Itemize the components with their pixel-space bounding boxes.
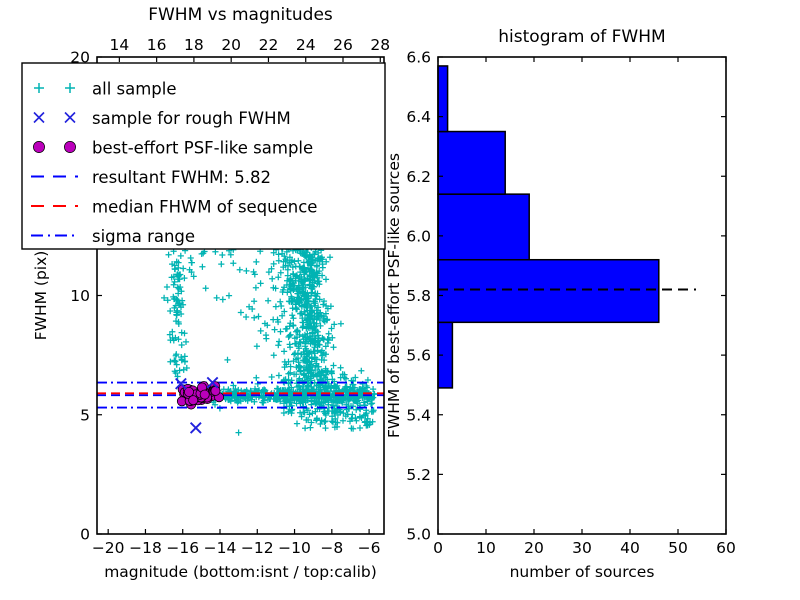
left-ytick-label: 0: [80, 526, 90, 544]
legend-item-label: resultant FWHM: 5.82: [92, 168, 271, 187]
right-xtick-label: 60: [716, 539, 736, 557]
left-xtick-label: −16: [166, 539, 199, 557]
legend-circle-icon: [64, 141, 75, 152]
histogram-bar: [438, 260, 659, 323]
left-plot-axes: −20−18−16−14−12−10−8−6141618202224262805…: [22, 5, 736, 581]
legend-item-label: all sample: [92, 80, 177, 99]
left-xtick-label: −18: [129, 539, 162, 557]
matplotlib-figure: −20−18−16−14−12−10−8−6141618202224262805…: [0, 0, 800, 600]
right-ytick-label: 6.4: [406, 108, 431, 126]
left-ytick-label: 5: [80, 406, 90, 424]
right-xtick-label: 0: [433, 539, 443, 557]
legend: all samplesample for rough FWHMbest-effo…: [22, 63, 385, 249]
psf-sample-point: [189, 396, 198, 405]
right-ytick-label: 6.6: [406, 49, 431, 67]
left-top-xtick-label: 20: [221, 36, 241, 54]
right-plot-title: histogram of FWHM: [498, 27, 665, 47]
left-plot-xlabel: magnitude (bottom:isnt / top:calib): [104, 563, 377, 581]
right-xtick-label: 20: [524, 539, 544, 557]
histogram-bar: [438, 194, 529, 260]
right-ytick-label: 6.0: [406, 227, 431, 245]
left-top-xtick-label: 16: [147, 36, 167, 54]
right-ytick-label: 6.2: [406, 168, 431, 186]
left-top-xtick-label: 24: [296, 36, 316, 54]
right-xtick-label: 40: [620, 539, 640, 557]
left-plot-ylabel: FWHM (pix): [32, 251, 50, 341]
left-top-xtick-label: 26: [333, 36, 353, 54]
left-xtick-label: −10: [278, 539, 311, 557]
left-top-xtick-label: 14: [109, 36, 129, 54]
left-xtick-label: −20: [92, 539, 125, 557]
right-ytick-label: 5.4: [406, 406, 431, 424]
right-ytick-label: 5.2: [406, 466, 431, 484]
legend-item-label: best-effort PSF-like sample: [92, 139, 313, 158]
left-top-xtick-label: 28: [370, 36, 390, 54]
left-xtick-label: −8: [320, 539, 343, 557]
left-xtick-label: −12: [241, 539, 274, 557]
left-plot-title: FWHM vs magnitudes: [148, 5, 333, 25]
histogram-bar: [438, 66, 448, 132]
psf-sample-point: [200, 390, 209, 399]
histogram-bar: [438, 132, 505, 195]
psf-sample-point: [211, 386, 220, 395]
figure-canvas: −20−18−16−14−12−10−8−6141618202224262805…: [0, 0, 800, 600]
right-xtick-label: 30: [572, 539, 592, 557]
legend-circle-icon: [33, 141, 44, 152]
left-top-xtick-label: 22: [259, 36, 279, 54]
legend-item-label: median FHWM of sequence: [92, 198, 317, 217]
right-xtick-label: 50: [668, 539, 688, 557]
right-ytick-label: 5.0: [406, 526, 431, 544]
legend-item-label: sigma range: [92, 227, 195, 246]
left-xtick-label: −6: [358, 539, 381, 557]
right-ytick-label: 5.8: [406, 287, 431, 305]
left-ytick-label: 10: [70, 287, 90, 305]
right-ytick-label: 5.6: [406, 347, 431, 365]
right-plot-ylabel: FWHM of best-effort PSF-like sources: [385, 153, 403, 438]
right-plot-xlabel: number of sources: [510, 563, 655, 581]
left-top-xtick-label: 18: [184, 36, 204, 54]
legend-item-label: sample for rough FWHM: [92, 109, 291, 128]
right-xtick-label: 10: [476, 539, 496, 557]
left-xtick-label: −14: [204, 539, 237, 557]
